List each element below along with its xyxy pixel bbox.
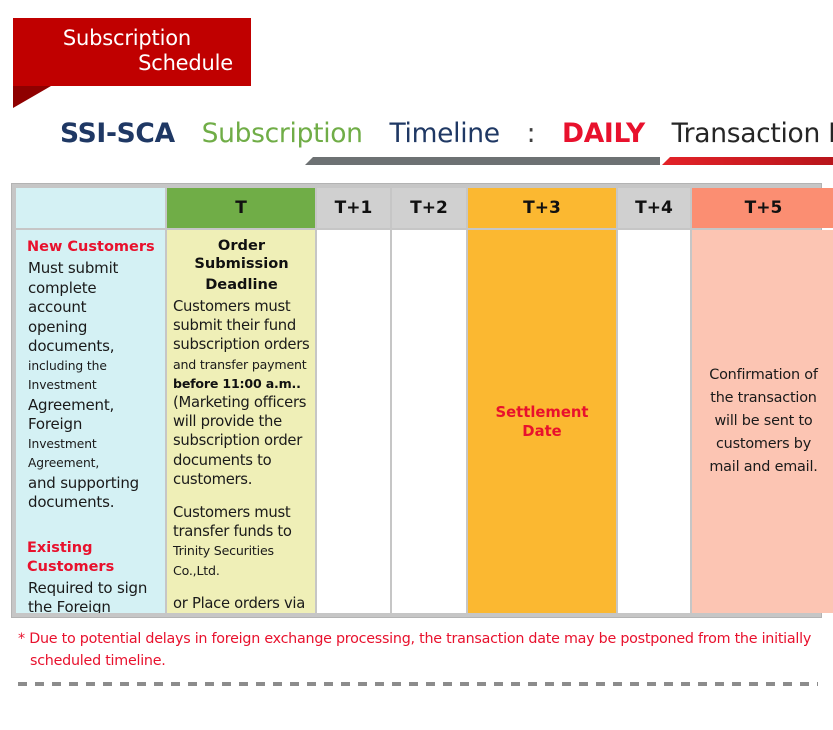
table-header-info: [16, 188, 165, 228]
table-header-t2: T+2: [392, 188, 466, 228]
t-deadline-time: before 11:00 a.m.: [173, 376, 296, 391]
t-p3-line-1: Customers must: [173, 503, 310, 522]
table-cell-t2: [392, 230, 466, 613]
t-p2-line-2: will provide the: [173, 412, 310, 431]
confirmation-line-4: customers by: [709, 433, 818, 456]
existing-customers-heading: Existing Customers: [27, 539, 159, 577]
table-cell-t4: [618, 230, 690, 613]
t-p1-line-2: submit their fund: [173, 316, 310, 335]
new-customers-line-4: including the Investment: [28, 357, 159, 396]
table-cell-t3-settlement: Settlement Date: [468, 230, 616, 613]
table-cell-t1: [317, 230, 390, 613]
confirmation-line-1: Confirmation of: [709, 364, 818, 387]
table-cell-t5-confirmation: Confirmation of the transaction will be …: [692, 230, 833, 613]
ribbon-label-line1: Subscription: [13, 26, 233, 51]
dashed-divider: [18, 682, 818, 686]
table-header-t4: T+4: [618, 188, 690, 228]
t-deadline-period: .: [296, 376, 301, 391]
t-p2-line-3: subscription order: [173, 431, 310, 450]
existing-customers-line-2: the Foreign: [28, 598, 159, 613]
t-p1-line-1: Customers must: [173, 297, 310, 316]
footnote: * Due to potential delays in foreign exc…: [18, 628, 818, 672]
new-customers-line-2: complete account: [28, 279, 159, 318]
new-customers-line-8: documents.: [28, 493, 159, 513]
title-subscription: Subscription: [202, 118, 363, 149]
title-underline-red: [662, 157, 833, 165]
spacer: [173, 489, 310, 503]
footnote-line-2: scheduled timeline.: [18, 650, 818, 672]
ribbon-label-line2: Schedule: [13, 51, 233, 76]
new-customers-line-5: Agreement, Foreign: [28, 396, 159, 435]
settlement-label-line-2: Date: [495, 422, 588, 441]
t-p1-line-4: and transfer payment: [173, 355, 310, 374]
spacer: [24, 513, 159, 539]
subscription-timeline-table: T T+1 T+2 T+3 T+4 T+5 New Customers Must…: [11, 183, 822, 618]
table-cell-t-order-submission: Order Submission Deadline Customers must…: [167, 230, 315, 613]
ribbon-label: Subscription Schedule: [13, 18, 251, 86]
t-p3-line-2: transfer funds to: [173, 522, 310, 541]
footnote-line-1: * Due to potential delays in foreign exc…: [18, 631, 811, 647]
new-customers-line-7: and supporting: [28, 474, 159, 494]
existing-customers-line-1: Required to sign: [28, 579, 159, 599]
t-p1-line-3: subscription orders: [173, 335, 310, 354]
page-title: SSI-SCA Subscription Timeline : DAILY Tr…: [60, 118, 833, 149]
new-customers-line-6: Investment Agreement,: [28, 435, 159, 474]
title-colon: :: [527, 118, 536, 149]
table-header-t3: T+3: [468, 188, 616, 228]
table-header-t: T: [167, 188, 315, 228]
spacer: [173, 580, 310, 594]
new-customers-line-1: Must submit: [28, 259, 159, 279]
title-underline-gray: [305, 157, 660, 165]
new-customers-line-3: opening documents,: [28, 318, 159, 357]
title-daily: DAILY: [562, 118, 645, 149]
order-submission-title-line-2: Deadline: [173, 276, 310, 294]
table-header-t1: T+1: [317, 188, 390, 228]
confirmation-line-5: mail and email.: [709, 456, 818, 479]
t-p1-line-5-bold: before 11:00 a.m..: [173, 374, 310, 393]
order-submission-title-line-1: Order Submission: [173, 237, 310, 273]
settlement-label-line-1: Settlement: [495, 403, 588, 422]
t-p2-line-4: documents to: [173, 451, 310, 470]
table-cell-customer-requirements: New Customers Must submit complete accou…: [16, 230, 165, 613]
title-timeline: Timeline: [389, 118, 499, 149]
t-p2-line-5: customers.: [173, 470, 310, 489]
confirmation-line-3: will be sent to: [709, 410, 818, 433]
t-p2-line-1: (Marketing officers: [173, 393, 310, 412]
title-brand: SSI-SCA: [60, 118, 175, 149]
t-p3-line-3: Trinity Securities Co.,Ltd.: [173, 541, 310, 579]
t-p4-line-1: or Place orders via: [173, 594, 310, 613]
ribbon-fold-decoration: [13, 86, 51, 108]
title-tail: Transaction Date: [672, 118, 833, 149]
new-customers-heading: New Customers: [27, 238, 159, 257]
timeline-grid: T T+1 T+2 T+3 T+4 T+5 New Customers Must…: [16, 188, 817, 613]
table-header-t5: T+5: [692, 188, 833, 228]
confirmation-text: Confirmation of the transaction will be …: [709, 364, 818, 479]
settlement-date-label: Settlement Date: [495, 403, 588, 441]
confirmation-line-2: the transaction: [709, 387, 818, 410]
